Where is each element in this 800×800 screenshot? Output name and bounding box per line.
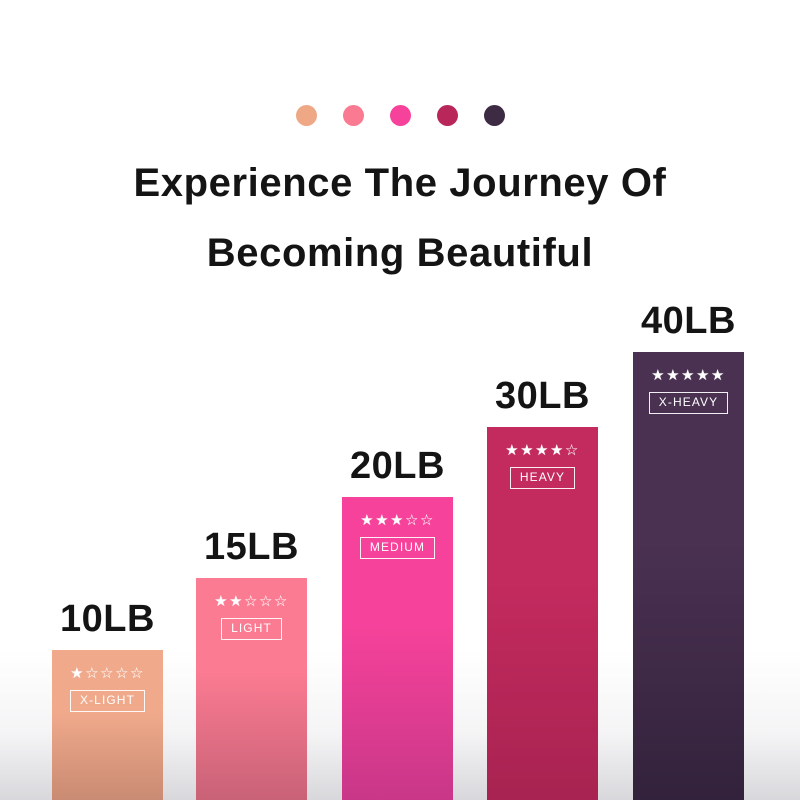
bar-badge-medium: ★★★☆☆MEDIUM <box>342 497 453 559</box>
star-rating-icon-x-light: ★☆☆☆☆ <box>70 666 145 681</box>
bar-group-15lb[interactable]: 15LB★★☆☆☆LIGHT <box>196 518 307 800</box>
bar-value-label-15lb: 15LB <box>204 528 299 566</box>
star-rating-icon-medium: ★★★☆☆ <box>360 513 435 528</box>
decorative-dot-row <box>0 105 800 126</box>
star-rating-icon-x-heavy: ★★★★★ <box>651 368 726 383</box>
bar-value-label-20lb: 20LB <box>350 447 445 485</box>
bar-30lb[interactable]: ★★★★☆HEAVY <box>487 427 598 800</box>
headline-block: Experience The Journey Of Becoming Beaut… <box>0 148 800 288</box>
bar-group-30lb[interactable]: 30LB★★★★☆HEAVY <box>487 367 598 800</box>
bar-value-label-40lb: 40LB <box>641 302 736 340</box>
bar-value-label-10lb: 10LB <box>60 600 155 638</box>
headline-line-2: Becoming Beautiful <box>0 218 800 288</box>
bar-20lb[interactable]: ★★★☆☆MEDIUM <box>342 497 453 800</box>
bar-40lb[interactable]: ★★★★★X-HEAVY <box>633 352 744 800</box>
bar-badge-heavy: ★★★★☆HEAVY <box>487 427 598 489</box>
palette-dot-3-icon <box>390 105 411 126</box>
bar-group-10lb[interactable]: 10LB★☆☆☆☆X-LIGHT <box>52 590 163 800</box>
bar-15lb[interactable]: ★★☆☆☆LIGHT <box>196 578 307 800</box>
tier-label-medium: MEDIUM <box>360 537 435 559</box>
bar-value-label-30lb: 30LB <box>495 377 590 415</box>
star-rating-icon-light: ★★☆☆☆ <box>214 594 289 609</box>
tier-label-x-heavy: X-HEAVY <box>649 392 729 414</box>
palette-dot-2-icon <box>343 105 364 126</box>
poster-canvas: Experience The Journey Of Becoming Beaut… <box>0 0 800 800</box>
bar-badge-light: ★★☆☆☆LIGHT <box>196 578 307 640</box>
bar-badge-x-heavy: ★★★★★X-HEAVY <box>633 352 744 414</box>
bar-group-20lb[interactable]: 20LB★★★☆☆MEDIUM <box>342 437 453 800</box>
headline-line-1: Experience The Journey Of <box>0 148 800 218</box>
palette-dot-5-icon <box>484 105 505 126</box>
palette-dot-4-icon <box>437 105 458 126</box>
bar-badge-x-light: ★☆☆☆☆X-LIGHT <box>52 650 163 712</box>
tier-label-light: LIGHT <box>221 618 282 640</box>
bar-group-40lb[interactable]: 40LB★★★★★X-HEAVY <box>633 292 744 800</box>
palette-dot-1-icon <box>296 105 317 126</box>
tier-label-heavy: HEAVY <box>510 467 575 489</box>
tier-label-x-light: X-LIGHT <box>70 690 145 712</box>
bar-10lb[interactable]: ★☆☆☆☆X-LIGHT <box>52 650 163 800</box>
star-rating-icon-heavy: ★★★★☆ <box>505 443 580 458</box>
